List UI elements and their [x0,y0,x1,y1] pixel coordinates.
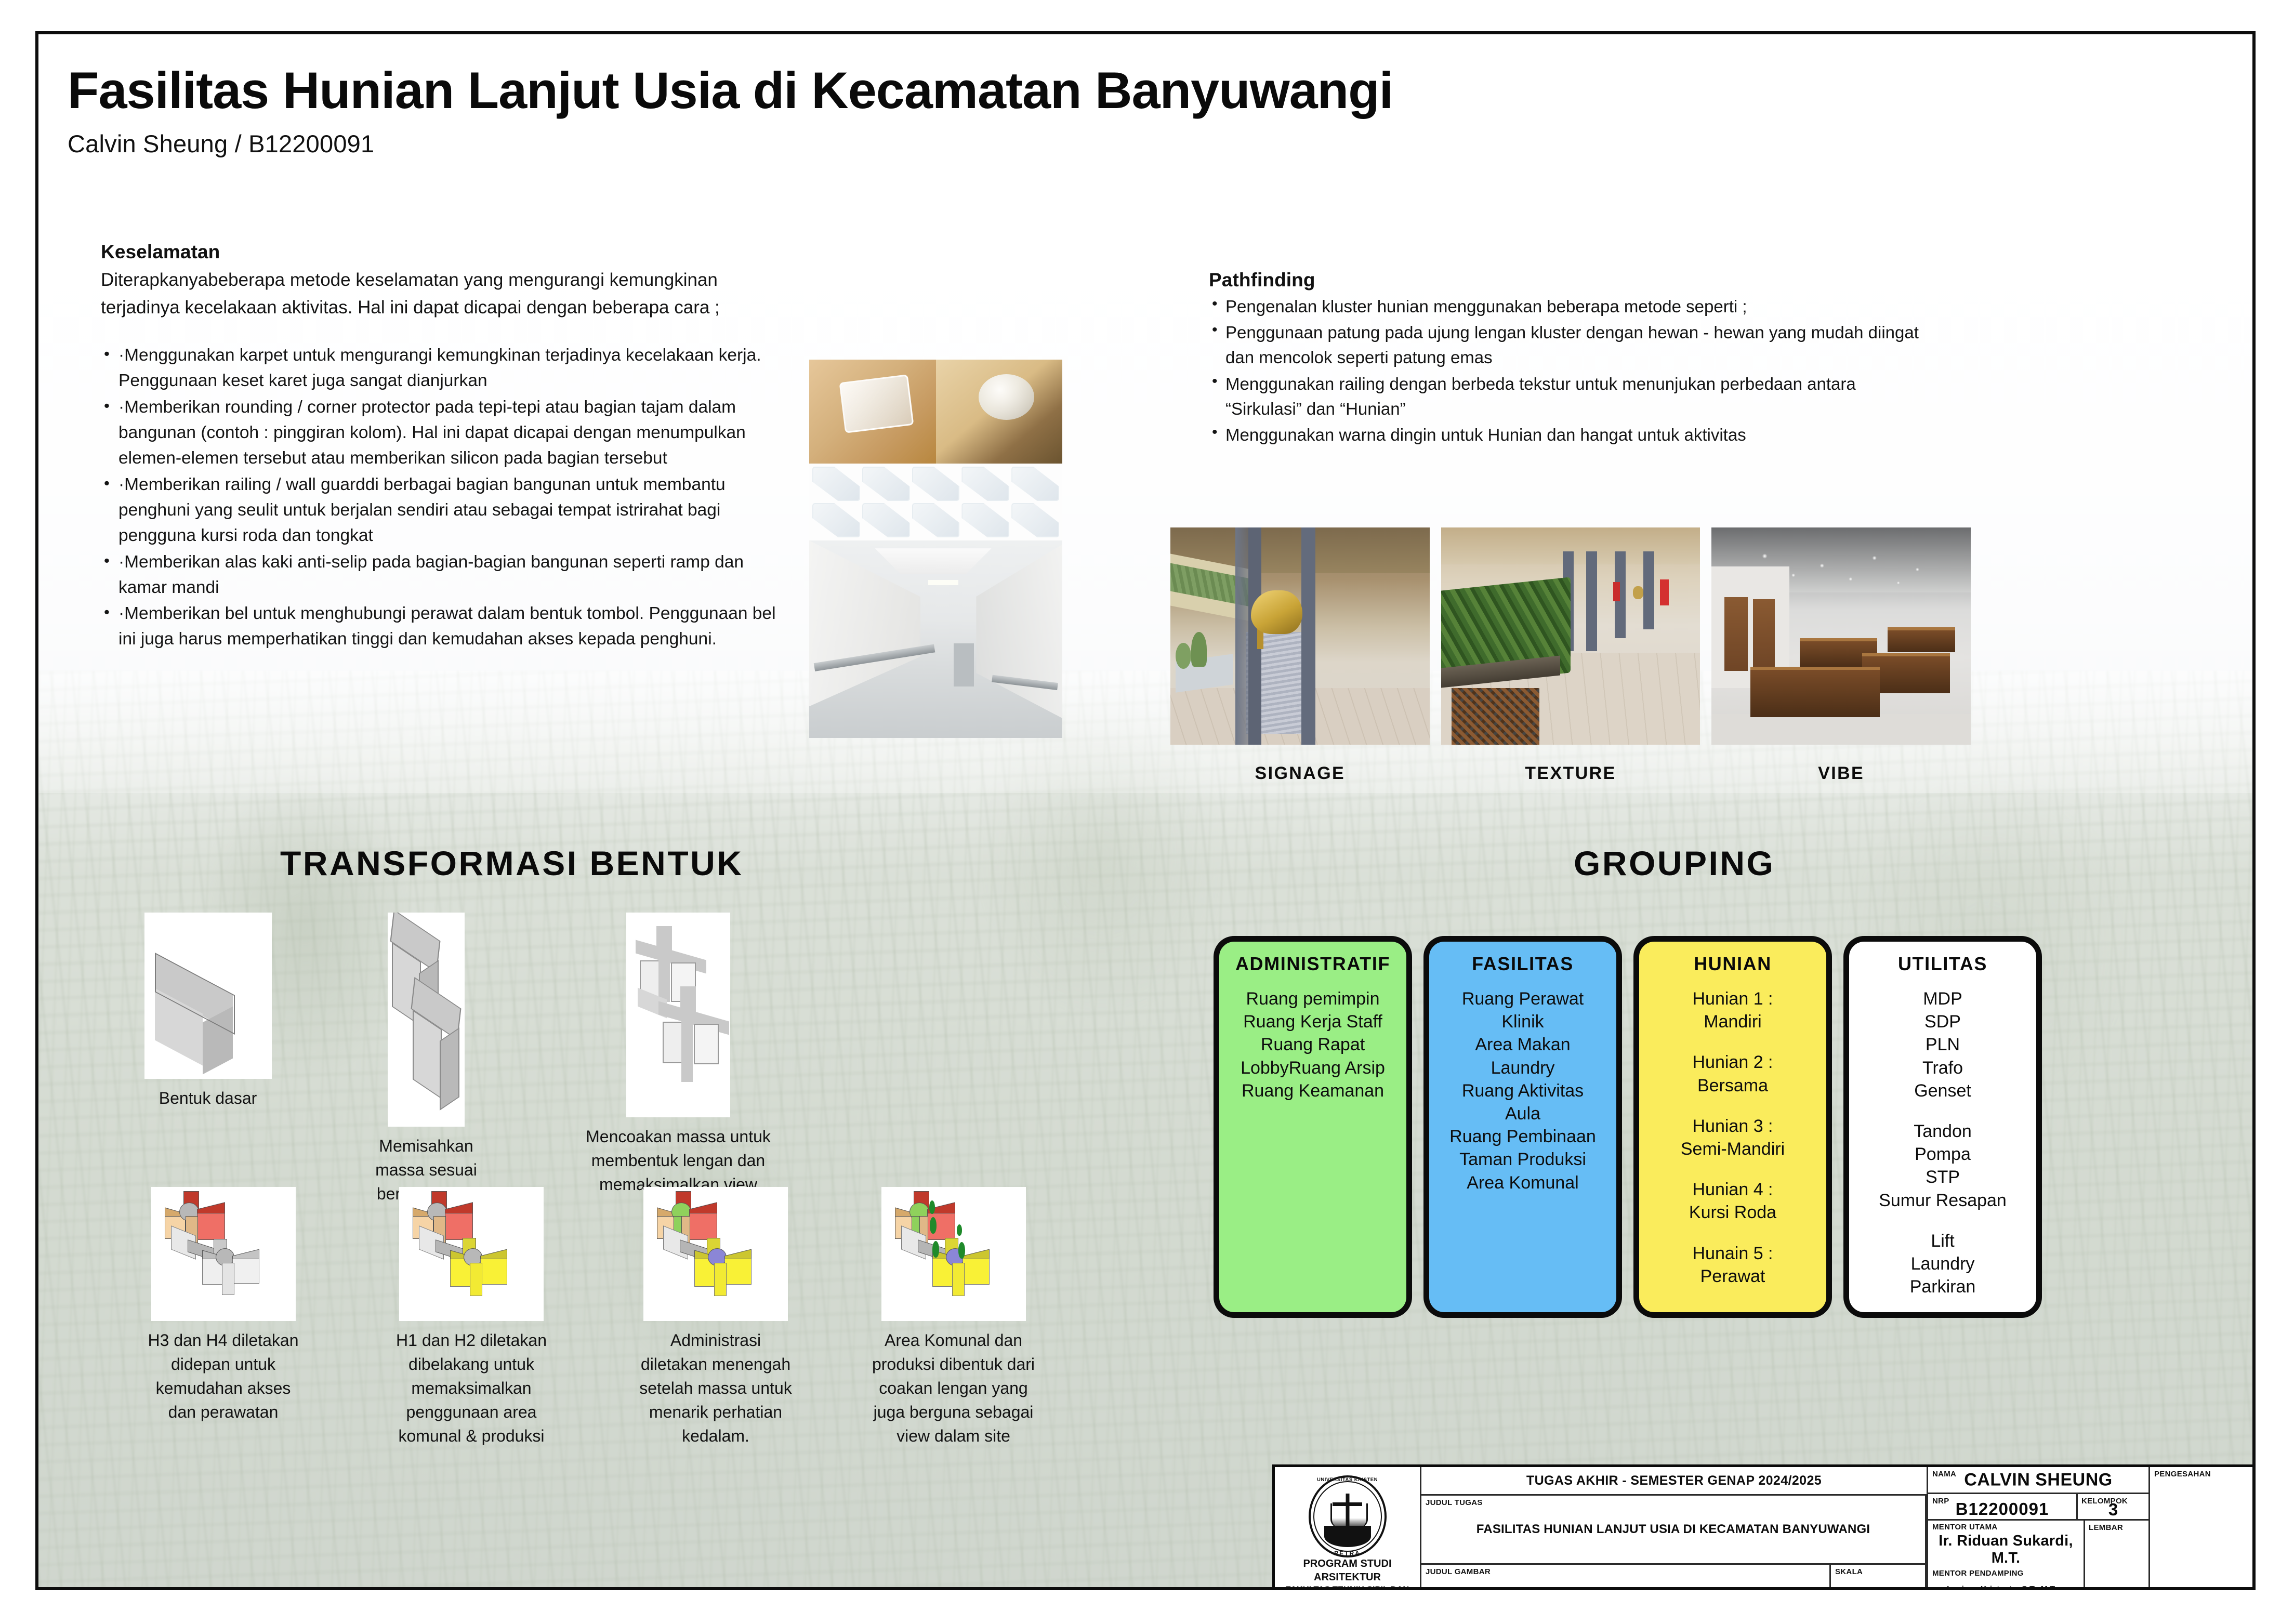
grouping-item: Laundry [1434,1057,1611,1079]
keselamatan-list: ·Menggunakan karpet untuk mengurangi kem… [101,343,787,652]
grouping-item: Tandon [1854,1120,2031,1143]
skala-label: SKALA [1835,1567,1921,1576]
render-signage: SIGNAGE [1170,527,1430,784]
grouping-item: Trafo [1854,1057,2031,1079]
transformasi-row-2: H3 dan H4 diletakan didepan untuk kemuda… [100,1187,1072,1448]
pengesahan-label: PENGESAHAN [2154,1470,2256,1478]
judul-gambar-label: JUDUL GAMBAR [1426,1567,1825,1576]
transformasi-row-1: Bentuk dasar Memisahkan massa sesuai ben… [107,913,1074,1206]
nrp-cell: NRP B12200091 [1927,1494,2078,1519]
titleblock-logo-cell: UNIVERSITAS KRISTEN PETRA PROGRAM STUDI … [1275,1467,1421,1590]
grouping-item: Hunian 4 : [1644,1178,1821,1201]
tree-icon [958,1242,965,1259]
nama-value: CALVIN SHEUNG [1928,1470,2148,1490]
grouping-title: GROUPING [1574,843,1775,883]
keselamatan-list-item: ·Memberikan railing / wall guarddi berba… [101,472,787,549]
transformasi-step-4: H3 dan H4 diletakan didepan untuk kemuda… [100,1187,347,1448]
render-caption-signage: SIGNAGE [1170,763,1430,784]
transformasi-caption-4: H3 dan H4 diletakan didepan untuk kemuda… [146,1328,301,1424]
texture-render-image [1441,527,1700,745]
golden-cow-statue-icon [1251,590,1303,634]
transformasi-step-7: Area Komunal dan produksi dibentuk dari … [835,1187,1072,1448]
poster-frame: Fasilitas Hunian Lanjut Usia di Kecamata… [35,31,2256,1590]
pathfinding-list-item: Penggunaan patung pada ujung lengan klus… [1209,320,1936,370]
titleblock-banner: TUGAS AKHIR - SEMESTER GENAP 2024/2025 [1421,1467,1927,1496]
grouping-box-title: UTILITAS [1854,953,2031,975]
page-title: Fasilitas Hunian Lanjut Usia di Kecamata… [68,64,1393,117]
judul-gambar-cell: JUDUL GAMBAR TABEL TABULASI [1421,1565,1831,1591]
corner-protector-round-image [936,360,1063,464]
grouping-item: Ruang Aktivitas [1434,1079,1611,1102]
tree-icon [957,1224,962,1236]
transformasi-step-6: Administrasi diletakan menengah setelah … [596,1187,835,1448]
protector-grid [812,467,1059,537]
render-vibe: VIBE [1711,527,1971,784]
transformasi-step-2: Memisahkan massa sesuai bentukan site [343,913,509,1206]
grouping-item: Lift [1854,1230,2031,1252]
program-info: PROGRAM STUDI ARSITEKTUR FAKULTAS TEKNIK… [1278,1557,1417,1590]
seal-bottom-text: PETRA [1309,1550,1387,1557]
pathfinding-list-item: Pengenalan kluster hunian menggunakan be… [1209,294,1936,319]
vibe-render-image [1711,527,1971,745]
grouping-item: Parkiran [1854,1275,2031,1298]
tanggal-cell: TANGGAL 11 Juni 2024 [2150,1589,2256,1590]
grouping-item: Hunian 3 : [1644,1115,1821,1138]
grouping-spacer [1644,1033,1821,1051]
grouping-box-title: FASILITAS [1434,953,1611,975]
transformasi-bentuk-title: TRANSFORMASI BENTUK [280,843,743,883]
pathfinding-list-item: Menggunakan railing dengan berbeda tekst… [1209,372,1936,421]
grouping-spacer [1854,1212,2031,1230]
transformasi-caption-5: H1 dan H2 diletakan dibelakang untuk mem… [388,1328,555,1448]
grouping-item: Sumur Resapan [1854,1189,2031,1212]
grouping-item: Area Komunal [1434,1171,1611,1194]
judul-tugas-cell: JUDUL TUGAS FASILITAS HUNIAN LANJUT USIA… [1421,1496,1927,1565]
grouping-box-title: HUNIAN [1644,953,1821,975]
grouping-box-title: ADMINISTRATIF [1224,953,1401,975]
judul-tugas-label: JUDUL TUGAS [1426,1498,1921,1507]
program-line-2: FAKULTAS TEKNIK SIPIL DAN PERENCANAAN [1278,1585,1417,1590]
grouping-box-fasilitas[interactable]: FASILITASRuang PerawatKlinikArea MakanLa… [1423,936,1622,1318]
grouping-item: SDP [1854,1010,2031,1033]
author-line: Calvin Sheung / B12200091 [68,129,1393,158]
mentor-pendamping-label: MENTOR PENDAMPING [1932,1569,2079,1578]
corridor-wall-right [976,545,1062,718]
grouping-item: PLN [1854,1033,2031,1056]
tree-icon [932,1241,939,1258]
grouping-item: Perawat [1644,1265,1821,1288]
transformasi-caption-6: Administrasi diletakan menengah setelah … [638,1328,794,1448]
grouping-item: Ruang Rapat [1224,1033,1401,1056]
nama-cell: NAMA CALVIN SHEUNG [1927,1467,2148,1494]
corner-protector-set-photo [809,464,1062,540]
mentor-pendamping-item: Luciana Kristanto, S.T., M.T. [1947,1584,2079,1590]
grouping-item: Laundry [1854,1252,2031,1275]
grouping-spacer [1644,1224,1821,1242]
transformasi-step-1: Bentuk dasar [130,913,286,1206]
corridor-ceiling [875,548,992,574]
transformasi-step-3: Mencoakan massa untuk membentuk lengan d… [556,913,800,1206]
grouping-item: Genset [1854,1079,2031,1102]
grouping-item: Pompa [1854,1143,2031,1166]
corridor-handrail-photo [809,540,1062,738]
grouping-spacer [1644,1160,1821,1178]
keselamatan-heading: Keselamatan [101,241,787,263]
seal-top-text: UNIVERSITAS KRISTEN [1309,1477,1387,1483]
transformasi-caption-1: Bentuk dasar [143,1086,273,1110]
grouping-item: MDP [1854,987,2031,1010]
grouping-item: Ruang Keamanan [1224,1079,1401,1102]
nrp-value: B12200091 [1928,1499,2076,1519]
grouping-spacer [1644,1097,1821,1115]
transformasi-step-5: H1 dan H2 diletakan dibelakang untuk mem… [347,1187,596,1448]
render-caption-texture: TEXTURE [1441,763,1700,784]
grouping-item: Taman Produksi [1434,1148,1611,1171]
grouping-item: Mandiri [1644,1010,1821,1033]
grouping-item: Hunain 5 : [1644,1242,1821,1265]
judul-tugas-value: FASILITAS HUNIAN LANJUT USIA DI KECAMATA… [1421,1522,1925,1537]
titleblock-right: NAMA CALVIN SHEUNG NRP B12200091 KELOMPO… [1927,1467,2256,1590]
grouping-box-administratif[interactable]: ADMINISTRATIFRuang pemimpinRuang Kerja S… [1214,936,1412,1318]
pathfinding-list-item: Menggunakan warna dingin untuk Hunian da… [1209,422,1936,447]
grouping-item: Bersama [1644,1074,1821,1097]
pathfinding-section: Pathfinding Pengenalan kluster hunian me… [1209,269,1936,448]
lembar-label: LEMBAR [2089,1523,2145,1532]
keselamatan-list-item: ·Menggunakan karpet untuk mengurangi kem… [101,343,787,394]
grouping-item: Aula [1434,1102,1611,1125]
corridor-door [954,643,974,687]
transformasi-caption-7: Area Komunal dan produksi dibentuk dari … [871,1328,1037,1448]
poster-header: Fasilitas Hunian Lanjut Usia di Kecamata… [68,64,1393,158]
mentor-pendamping-list: Luciana Kristanto, S.T., M.T.Ir. Nugroho… [1932,1584,2079,1590]
skala-cell: SKALA [1831,1565,1927,1591]
grouping-item: Hunian 1 : [1644,987,1821,1010]
render-gallery: SIGNAGE TEXTURE [1170,527,1971,784]
transformasi-caption-3: Mencoakan massa untuk membentuk lengan d… [564,1125,793,1196]
signage-render-image [1170,527,1430,745]
grouping-item: Klinik [1434,1010,1611,1033]
corridor-ceiling-light [928,580,958,585]
program-line-1: PROGRAM STUDI ARSITEKTUR [1278,1557,1417,1584]
keselamatan-intro: Diterapkanyabeberapa metode keselamatan … [101,266,787,321]
grouping-item: Area Makan [1434,1033,1611,1056]
tree-icon [930,1217,937,1234]
pathfinding-list: Pengenalan kluster hunian menggunakan be… [1209,294,1936,447]
corner-protector-clear-image [809,360,936,464]
grouping-item: LobbyRuang Arsip [1224,1057,1401,1079]
grouping-boxes: ADMINISTRATIFRuang pemimpinRuang Kerja S… [1214,936,2042,1318]
tree-icon [929,1200,935,1214]
titleblock-middle: TUGAS AKHIR - SEMESTER GENAP 2024/2025 J… [1421,1467,1927,1590]
drawing-title-block: UNIVERSITAS KRISTEN PETRA PROGRAM STUDI … [1272,1464,2256,1590]
pathfinding-heading: Pathfinding [1209,269,1936,291]
mentor-utama-label: MENTOR UTAMA [1932,1523,2079,1531]
grouping-spacer [1854,1102,2031,1120]
keselamatan-photo-stack [809,360,1062,738]
kelompok-value: 3 [2078,1500,2148,1520]
grouping-item: Kursi Roda [1644,1201,1821,1224]
grouping-box-hunian[interactable]: HUNIANHunian 1 :MandiriHunian 2 :Bersama… [1633,936,1832,1318]
render-texture: TEXTURE [1441,527,1700,784]
grouping-item: Ruang Kerja Staff [1224,1010,1401,1033]
grouping-item: Ruang Pembinaan [1434,1125,1611,1148]
mentor-utama-value: Ir. Riduan Sukardi, M.T. [1932,1533,2079,1567]
keselamatan-section: Keselamatan Diterapkanyabeberapa metode … [101,241,787,653]
render-caption-vibe: VIBE [1711,763,1971,784]
grouping-item: Ruang Perawat [1434,987,1611,1010]
keselamatan-list-item: ·Memberikan alas kaki anti-selip pada ba… [101,550,787,601]
grouping-item: STP [1854,1166,2031,1189]
grouping-item: Semi-Mandiri [1644,1138,1821,1160]
grouping-item: Hunian 2 : [1644,1051,1821,1074]
kelompok-cell: KELOMPOK 3 [2078,1494,2148,1519]
lembar-cell: LEMBAR [2085,1521,2148,1590]
keselamatan-list-item: ·Memberikan bel untuk menghubungi perawa… [101,601,787,652]
corner-protector-photo [809,360,1062,464]
grouping-box-utilitas[interactable]: UTILITASMDPSDPPLNTrafoGensetTandonPompaS… [1843,936,2042,1318]
keselamatan-list-item: ·Memberikan rounding / corner protector … [101,395,787,471]
university-seal-icon: UNIVERSITAS KRISTEN PETRA [1309,1475,1387,1557]
pengesahan-cell: PENGESAHAN [2150,1467,2256,1589]
poster-canvas: Fasilitas Hunian Lanjut Usia di Kecamata… [0,0,2294,1624]
mentor-cell: MENTOR UTAMA Ir. Riduan Sukardi, M.T. ME… [1927,1521,2085,1590]
grouping-item: Ruang pemimpin [1224,987,1401,1010]
